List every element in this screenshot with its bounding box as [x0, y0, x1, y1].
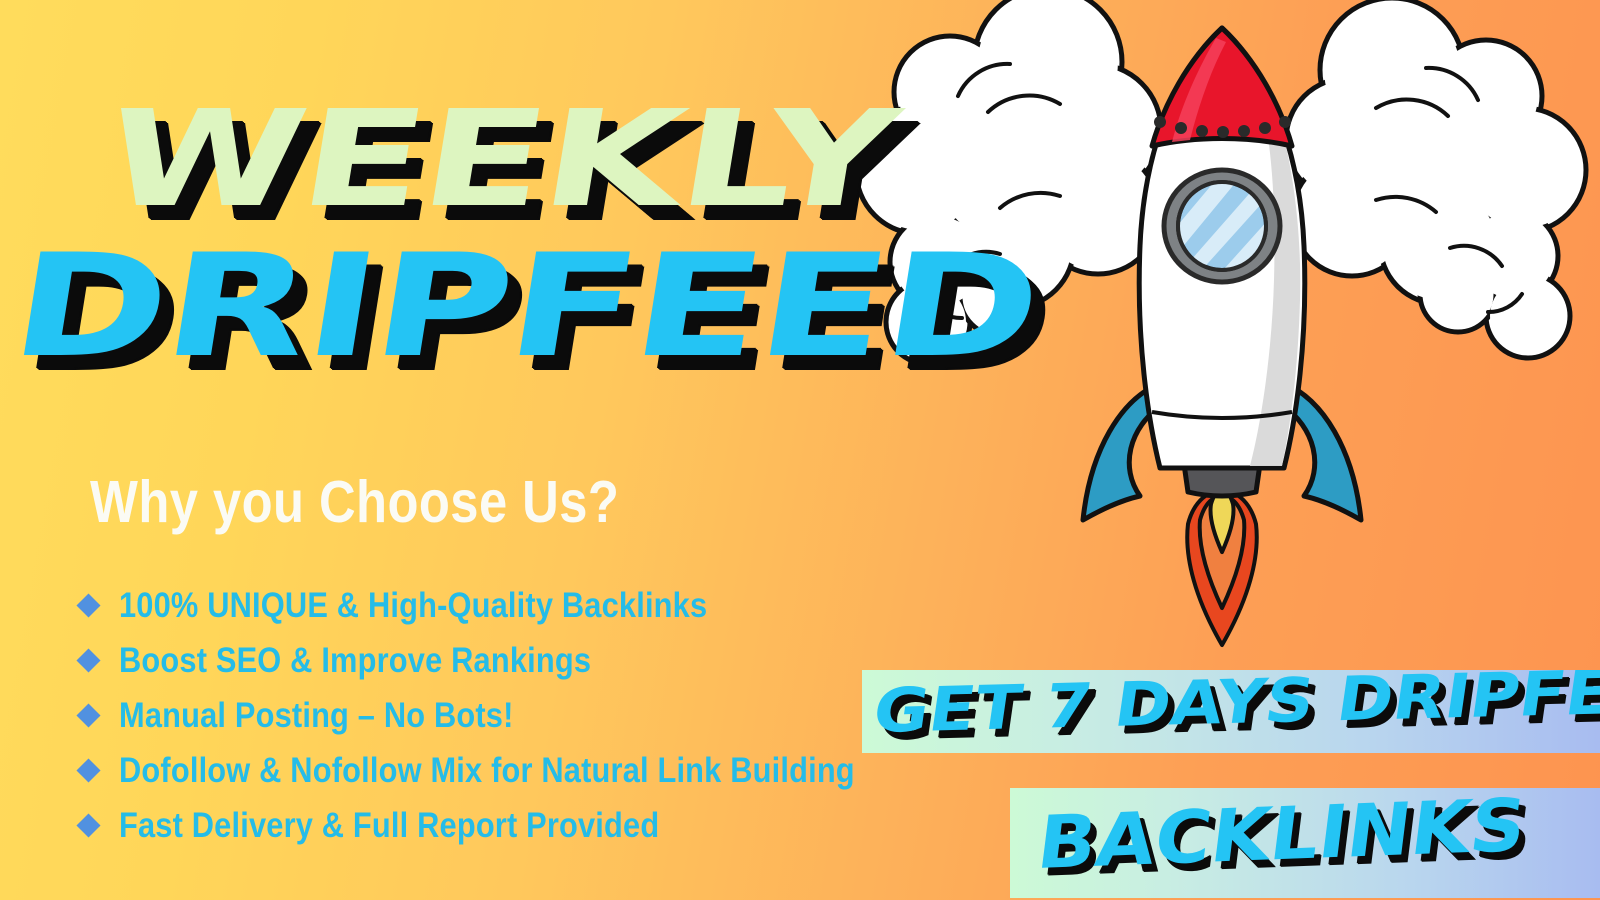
flame-outer	[1187, 490, 1257, 645]
rocket-body	[1139, 28, 1305, 468]
diamond-bullet-icon	[76, 758, 100, 782]
diamond-bullet-icon	[76, 593, 100, 617]
list-item: Boost SEO & Improve Rankings	[78, 633, 978, 688]
headline-line-weekly: WEEKLY	[96, 94, 906, 227]
rocket-rivets	[1154, 116, 1291, 138]
headline-block: WEEKLY DRIPFEED	[0, 88, 900, 418]
list-item: Dofollow & Nofollow Mix for Natural Link…	[78, 743, 978, 798]
subheading-why-choose-us: Why you Choose Us?	[90, 468, 619, 536]
rocket-seam-line	[1152, 412, 1292, 418]
rocket-flame	[1187, 490, 1257, 645]
callout-banner-offer-text: GET 7 DAYS DRIPFEED	[870, 670, 1600, 742]
rocket-nozzle	[1184, 464, 1260, 496]
nose-cone-highlight	[1172, 38, 1226, 142]
list-item: Manual Posting – No Bots!	[78, 688, 978, 743]
callout-banner-backlinks: BACKLINKS	[1010, 788, 1600, 898]
callout-banner-offer: GET 7 DAYS DRIPFEED	[862, 670, 1600, 753]
headline-line-dripfeed: DRIPFEED	[3, 236, 1049, 378]
benefit-label: Fast Delivery & Full Report Provided	[119, 806, 659, 846]
rocket-fin-right	[1281, 382, 1361, 520]
benefit-label: Manual Posting – No Bots!	[119, 696, 514, 736]
benefits-list: 100% UNIQUE & High-Quality Backlinks Boo…	[78, 578, 978, 853]
smoke-cloud-right-fill	[1290, 2, 1582, 354]
smoke-cloud-right-accents	[1376, 68, 1522, 312]
rocket-fin-left	[1083, 382, 1163, 520]
list-item: Fast Delivery & Full Report Provided	[78, 798, 978, 853]
rocket-body-shading	[1250, 96, 1300, 466]
flame-inner	[1210, 490, 1233, 552]
benefit-label: 100% UNIQUE & High-Quality Backlinks	[119, 586, 707, 626]
promotional-poster: WEEKLY DRIPFEED Why you Choose Us? 100% …	[0, 0, 1600, 900]
rocket-fins	[1083, 382, 1361, 520]
diamond-bullet-icon	[76, 648, 100, 672]
list-item: 100% UNIQUE & High-Quality Backlinks	[78, 578, 978, 633]
diamond-bullet-icon	[76, 703, 100, 727]
smoke-cloud-right	[1286, 0, 1586, 358]
callout-banner-backlinks-text: BACKLINKS	[1033, 789, 1530, 880]
rocket-porthole	[1162, 170, 1280, 282]
benefit-label: Dofollow & Nofollow Mix for Natural Link…	[119, 751, 855, 791]
benefit-label: Boost SEO & Improve Rankings	[119, 641, 591, 681]
flame-mid	[1200, 496, 1245, 608]
rocket-nose-cone	[1152, 28, 1292, 146]
diamond-bullet-icon	[76, 813, 100, 837]
porthole-glass-stripes	[1162, 182, 1276, 282]
